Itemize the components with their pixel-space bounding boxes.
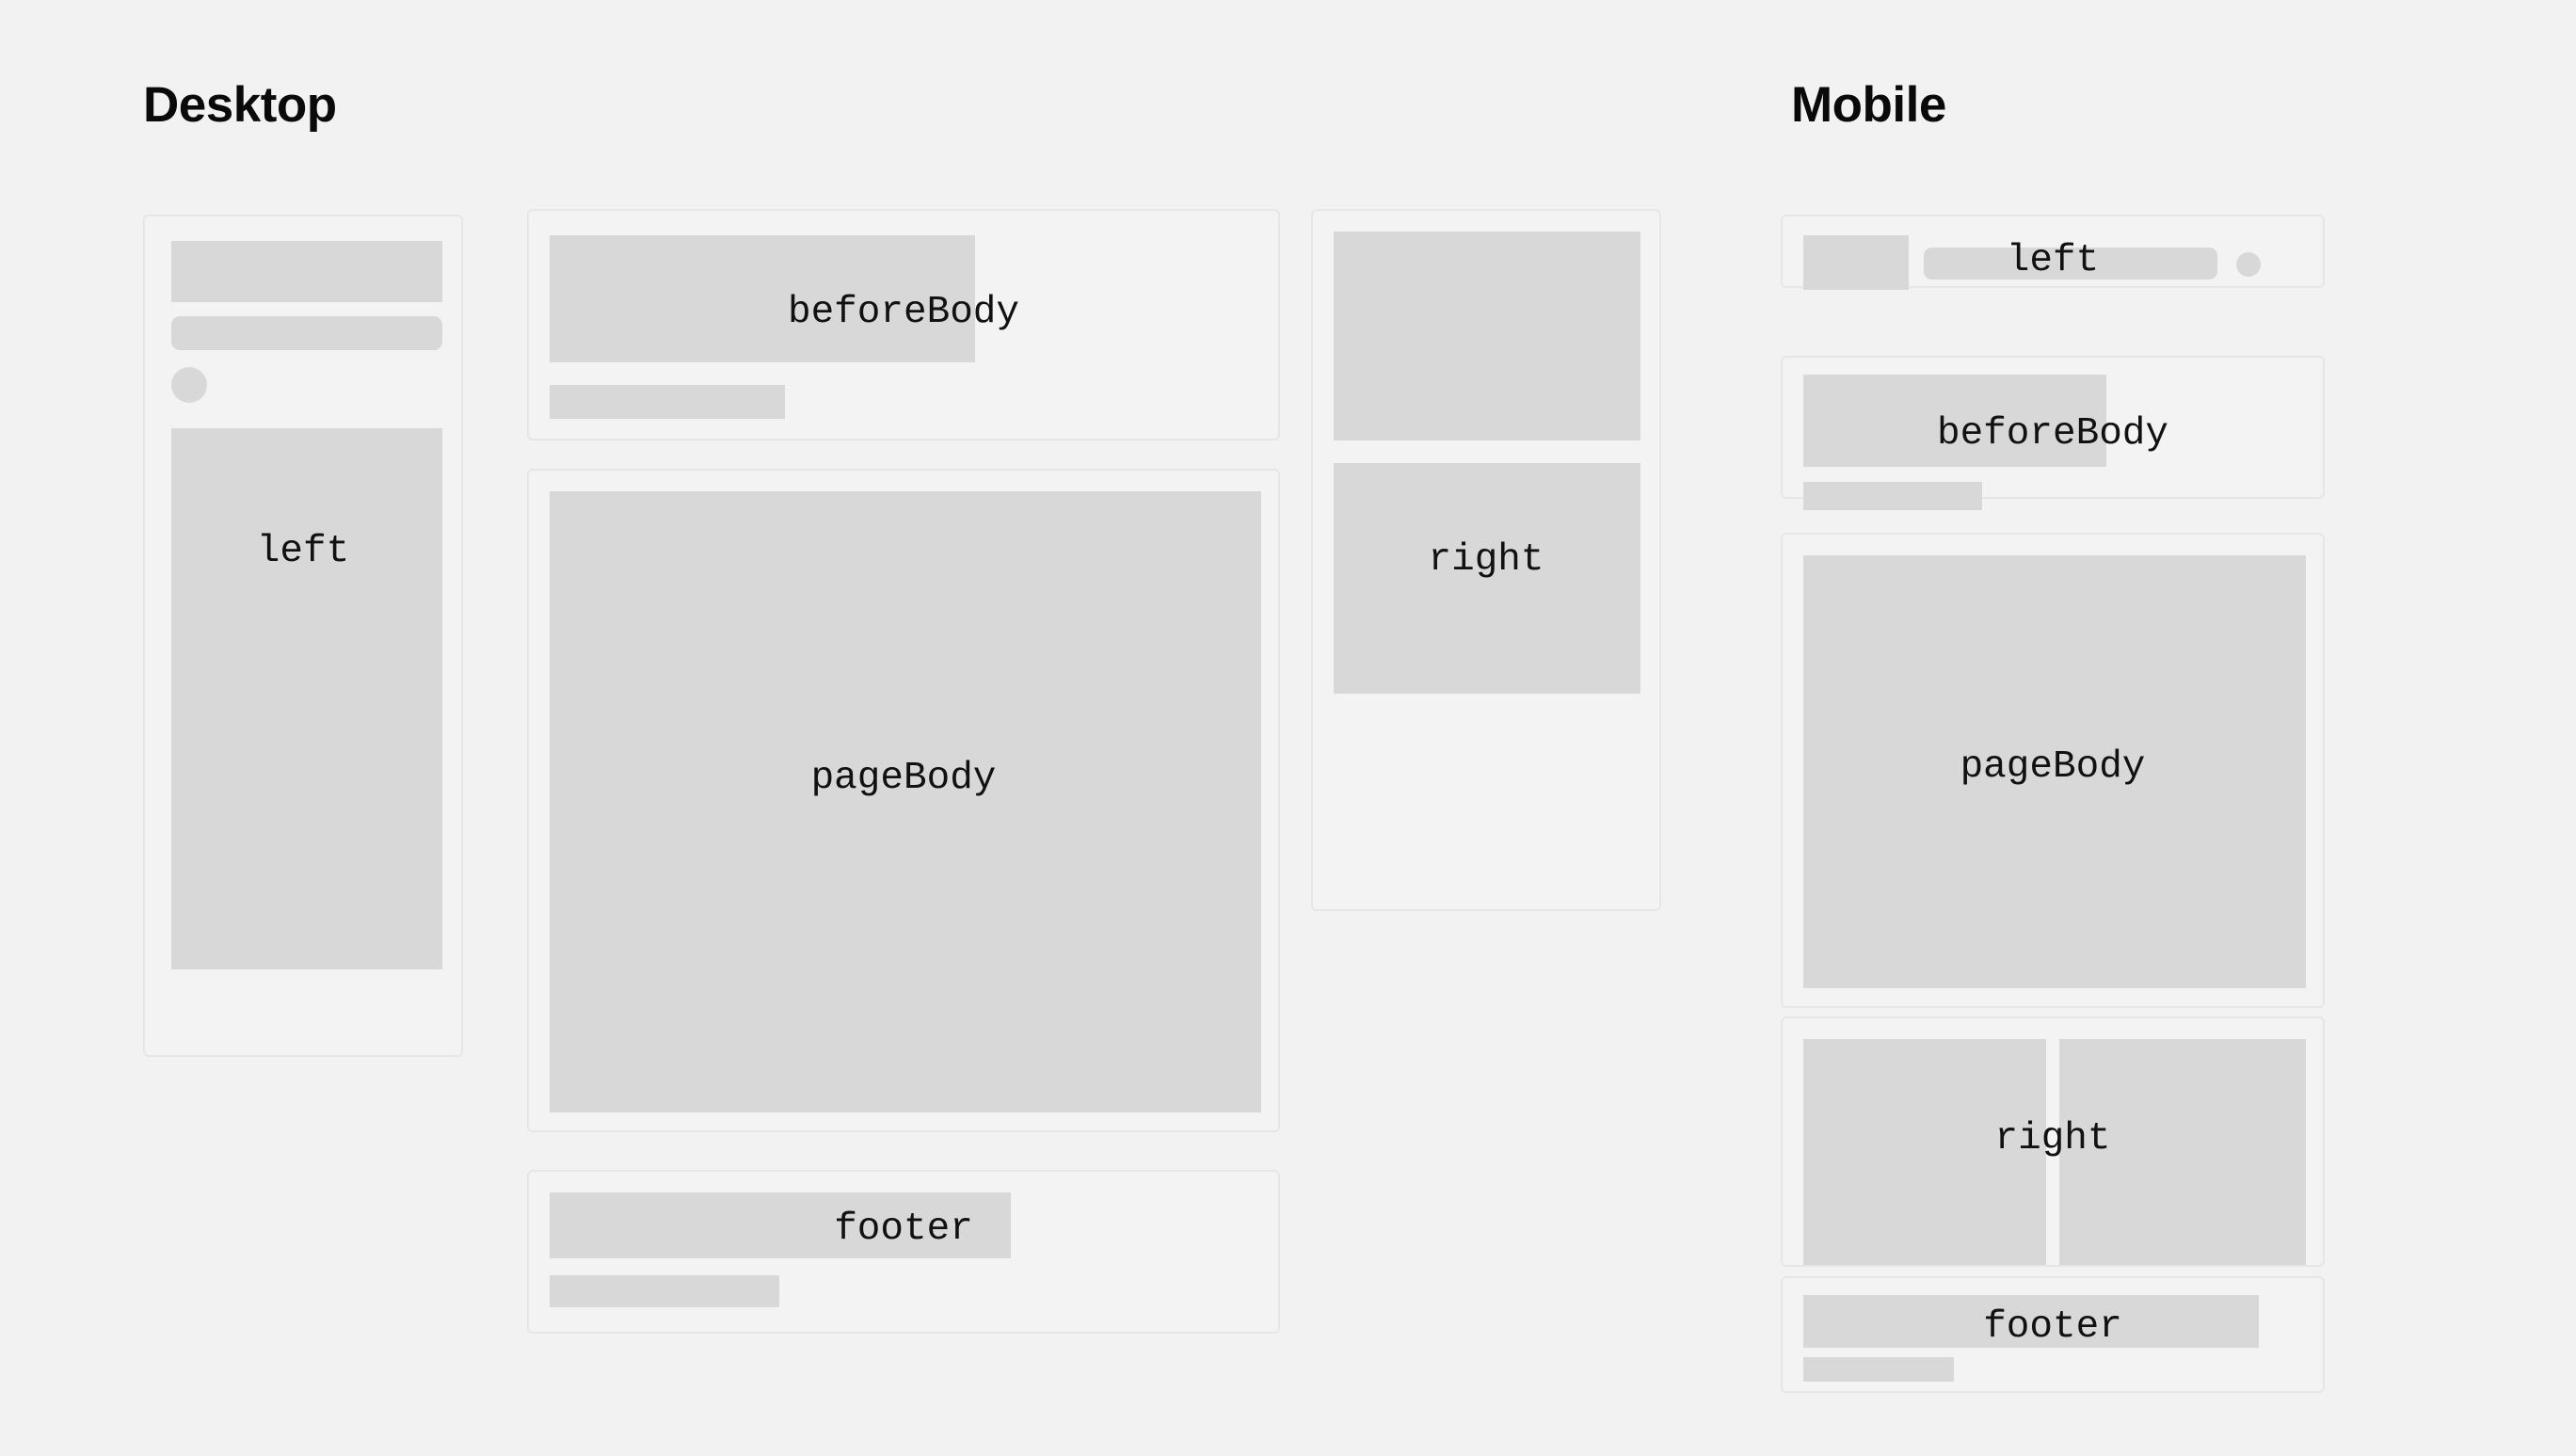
placeholder-block-body [550, 491, 1261, 1112]
placeholder-block-hero [171, 241, 442, 302]
placeholder-block-hero [550, 235, 975, 362]
desktop-region-footer[interactable] [527, 1170, 1280, 1334]
placeholder-block-bottom [1334, 463, 1640, 694]
placeholder-block-hero [550, 1192, 1011, 1258]
placeholder-block-left-column [1803, 1039, 2046, 1265]
placeholder-block-body [171, 428, 442, 969]
desktop-region-before-body[interactable] [527, 209, 1280, 440]
placeholder-avatar-circle [171, 367, 207, 403]
mobile-region-footer[interactable] [1781, 1276, 2325, 1393]
placeholder-block-hero [1803, 1295, 2259, 1348]
desktop-region-right[interactable] [1311, 209, 1661, 911]
placeholder-block-right-column [2059, 1039, 2306, 1265]
placeholder-bar [171, 316, 442, 350]
mobile-region-right[interactable] [1781, 1016, 2325, 1267]
mobile-section-title: Mobile [1791, 80, 1946, 130]
placeholder-avatar-circle [2236, 252, 2261, 277]
mobile-region-page-body[interactable] [1781, 533, 2325, 1008]
placeholder-bar [1803, 482, 1982, 510]
desktop-region-page-body[interactable] [527, 469, 1280, 1132]
placeholder-bar [1924, 248, 2217, 280]
placeholder-block-hero [1803, 375, 2106, 467]
placeholder-bar [550, 385, 785, 419]
placeholder-block-top [1334, 232, 1640, 440]
mobile-region-before-body[interactable] [1781, 356, 2325, 499]
mobile-region-left[interactable] [1781, 215, 2325, 288]
placeholder-bar [550, 1275, 779, 1307]
desktop-region-left[interactable] [143, 215, 463, 1057]
placeholder-bar [1803, 1357, 1954, 1382]
placeholder-block-body [1803, 555, 2306, 988]
placeholder-block-hero [1803, 235, 1909, 290]
desktop-section-title: Desktop [143, 80, 337, 130]
